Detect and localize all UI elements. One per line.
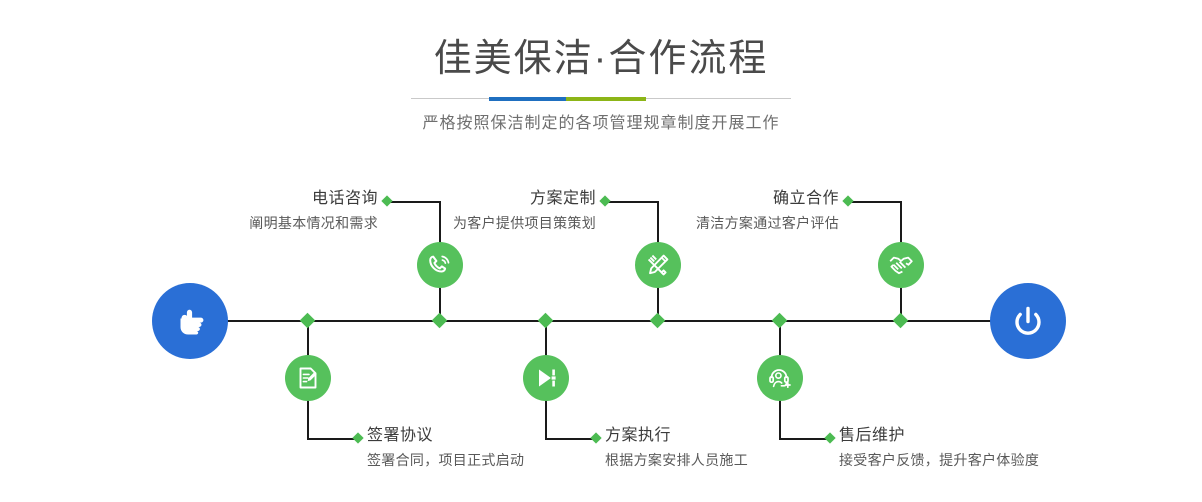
- step-desc-6: 接受客户反馈，提升客户体验度: [839, 449, 1119, 471]
- phone-call-icon: [426, 251, 454, 279]
- timeline-marker-3: [538, 313, 554, 329]
- pencil-ruler-icon: [644, 251, 672, 279]
- step-title-4: 方案执行: [605, 425, 855, 447]
- play-execute-icon: [532, 364, 560, 392]
- label-dot-step-5: [842, 195, 853, 206]
- title-divider: [411, 96, 791, 102]
- step-desc-2: 签署合同，项目正式启动: [367, 449, 617, 471]
- timeline-marker-5: [772, 313, 788, 329]
- step-icon-6: [757, 355, 803, 401]
- step-icon-1: [417, 242, 463, 288]
- step-icon-5: [878, 242, 924, 288]
- step-title-5: 确立合作: [611, 188, 839, 210]
- step-title-3: 方案定制: [368, 188, 596, 210]
- step-label-4: 方案执行 根据方案安排人员施工: [605, 425, 855, 471]
- connector-step-5-horizontal: [849, 201, 901, 203]
- step-title-6: 售后维护: [839, 425, 1119, 447]
- divider-segment-green: [566, 97, 646, 101]
- step-desc-4: 根据方案安排人员施工: [605, 449, 855, 471]
- page-subtitle: 严格按照保洁制定的各项管理规章制度开展工作: [0, 102, 1202, 136]
- process-timeline: 电话咨询 阐明基本情况和需求 签署协议 签署合同，项目正式启动: [0, 160, 1202, 502]
- page-header: 佳美保洁·合作流程 严格按照保洁制定的各项管理规章制度开展工作: [0, 0, 1202, 136]
- page-title: 佳美保洁·合作流程: [0, 0, 1202, 82]
- step-label-6: 售后维护 接受客户反馈，提升客户体验度: [839, 425, 1119, 471]
- step-label-1: 电话咨询 阐明基本情况和需求: [150, 188, 378, 234]
- document-sign-icon: [294, 364, 322, 392]
- step-desc-5: 清洁方案通过客户评估: [611, 212, 839, 234]
- timeline-marker-4: [650, 313, 666, 329]
- pointing-hand-icon: [168, 299, 212, 343]
- handshake-icon: [887, 251, 915, 279]
- timeline-end-node: [990, 283, 1066, 359]
- step-icon-3: [635, 242, 681, 288]
- timeline-marker-6: [893, 313, 909, 329]
- step-title-1: 电话咨询: [150, 188, 378, 210]
- label-dot-step-3: [599, 195, 610, 206]
- timeline-marker-2: [432, 313, 448, 329]
- step-label-5: 确立合作 清洁方案通过客户评估: [611, 188, 839, 234]
- connector-step-2-horizontal: [307, 438, 359, 440]
- power-icon: [1006, 299, 1050, 343]
- label-dot-step-2: [352, 432, 363, 443]
- timeline-marker-1: [300, 313, 316, 329]
- step-desc-3: 为客户提供项目策策划: [368, 212, 596, 234]
- step-label-2: 签署协议 签署合同，项目正式启动: [367, 425, 617, 471]
- step-title-2: 签署协议: [367, 425, 617, 447]
- divider-segment-blue: [489, 97, 566, 101]
- customer-support-add-icon: [766, 364, 794, 392]
- timeline-start-node: [152, 283, 228, 359]
- step-icon-2: [285, 355, 331, 401]
- step-label-3: 方案定制 为客户提供项目策策划: [368, 188, 596, 234]
- step-desc-1: 阐明基本情况和需求: [150, 212, 378, 234]
- step-icon-4: [523, 355, 569, 401]
